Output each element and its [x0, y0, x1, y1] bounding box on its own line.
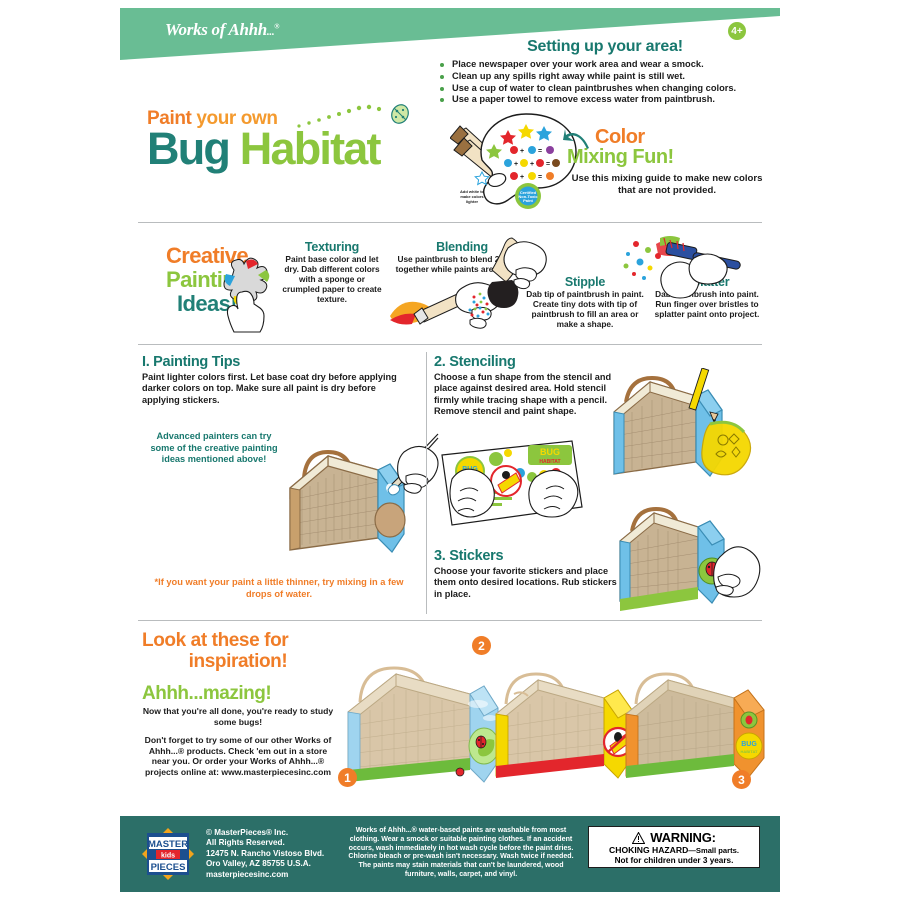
- palette-illustration: + = + + = + = Add white to make colors l…: [450, 108, 580, 216]
- brand-logo-text: Works of Ahhh: [165, 20, 267, 39]
- mixing-title-line2: Mixing Fun!: [567, 146, 767, 169]
- rights-line: All Rights Reserved.: [206, 838, 356, 848]
- brand-logo: Works of Ahhh...®: [165, 20, 279, 40]
- address-line-2: Oro Valley, AZ 85755 U.S.A.: [206, 859, 356, 869]
- svg-text:BUG: BUG: [540, 447, 560, 457]
- inspiration-heading: Look at these for inspiration!: [142, 630, 334, 672]
- divider-2: [138, 344, 762, 345]
- warning-header: WARNING:: [593, 830, 755, 845]
- step-body: Choose a fun shape from the stencil and …: [434, 372, 630, 418]
- divider-3: [138, 620, 762, 621]
- warning-line-2: CHOKING HAZARD—Small parts.: [593, 845, 755, 856]
- ahhh-body-part1: Now that you're all done, you're ready t…: [143, 706, 333, 727]
- photo-number-badge: 3: [732, 770, 751, 789]
- copyright-line: © MasterPieces® Inc.: [206, 828, 356, 838]
- footer: MASTER kids PIECES © MasterPieces® Inc. …: [120, 816, 780, 892]
- habitat-stencil-illustration: [610, 368, 758, 498]
- technique-name: Texturing: [282, 240, 382, 254]
- inspiration-photo-3: BUG HABITAT: [618, 658, 770, 788]
- choking-hazard-text: CHOKING HAZARD: [609, 845, 688, 855]
- palette-note-line3: lighter: [466, 199, 479, 204]
- warning-box: WARNING: CHOKING HAZARD—Small parts. Not…: [588, 826, 760, 868]
- svg-text:PIECES: PIECES: [151, 862, 186, 873]
- svg-text:HABITAT: HABITAT: [741, 749, 759, 754]
- step-body: Paint lighter colors first. Let base coa…: [142, 372, 412, 406]
- dotted-trail-decoration: [295, 100, 425, 134]
- step-title: I. Painting Tips: [142, 354, 412, 370]
- inspiration-photo-1: [338, 646, 508, 791]
- sticker-sheet-illustration: BUG HABITAT BUG HABITAT: [436, 433, 620, 538]
- svg-text:+: +: [520, 174, 524, 181]
- technique-desc: Paint base color and let dry. Dab differ…: [282, 254, 382, 304]
- company-website[interactable]: masterpiecesinc.com: [206, 870, 356, 880]
- inspiration-heading-line2: inspiration!: [142, 651, 334, 672]
- photo-number-badge: 2: [472, 636, 491, 655]
- svg-text:BUG: BUG: [741, 741, 757, 748]
- photo-number-badge: 1: [338, 768, 357, 787]
- svg-text:+: +: [520, 148, 524, 155]
- advanced-painters-note: Advanced painters can try some of the cr…: [148, 431, 280, 466]
- warning-triangle-icon: [632, 832, 645, 844]
- setup-section: Setting up your area! Place newspaper ov…: [438, 38, 772, 106]
- step-painting-tips: I. Painting Tips Paint lighter colors fi…: [142, 354, 412, 406]
- step-stenciling: 2. Stenciling Choose a fun shape from th…: [434, 354, 630, 418]
- thinner-note: *If you want your paint a little thinner…: [144, 576, 414, 600]
- address-line-1: 12475 N. Rancho Vistoso Blvd.: [206, 849, 356, 859]
- ahhhmazing-title: Ahhh...mazing!: [142, 683, 334, 705]
- splatter-toothbrush-icon: [620, 232, 770, 310]
- mixing-title-line1: Color: [567, 126, 767, 149]
- vertical-divider: [426, 352, 427, 614]
- step-title: 2. Stenciling: [434, 354, 630, 370]
- svg-text:+: +: [530, 161, 534, 168]
- warning-line-3: Not for children under 3 years.: [593, 856, 755, 866]
- step-stickers: 3. Stickers Choose your favorite sticker…: [434, 548, 624, 600]
- registered-mark-icon: ®: [274, 22, 279, 30]
- setup-bullet-list: Place newspaper over your work area and …: [438, 59, 772, 106]
- curved-arrow-icon: [563, 128, 591, 150]
- list-item: Place newspaper over your work area and …: [438, 59, 772, 71]
- svg-text:HABITAT: HABITAT: [539, 459, 560, 465]
- color-mixing-text: Color Mixing Fun! Use this mixing guide …: [567, 126, 767, 197]
- stipple-brush-icon: [450, 236, 560, 326]
- habitat-sticker-illustration: [614, 503, 764, 625]
- step-title: 3. Stickers: [434, 548, 624, 564]
- non-toxic-seal-icon: Certified Non-Toxic Paint: [515, 183, 541, 209]
- spacer: [140, 727, 336, 735]
- list-item: Clean up any spills right away while pai…: [438, 71, 772, 83]
- technique-texturing: Texturing Paint base color and let dry. …: [282, 240, 382, 304]
- divider-1: [138, 222, 762, 223]
- ahhhmazing-body: Now that you're all done, you're ready t…: [140, 706, 336, 778]
- ladybug-icon: [389, 102, 412, 126]
- step-body: Choose your favorite stickers and place …: [434, 566, 624, 600]
- svg-text:kids: kids: [161, 853, 175, 860]
- mixing-subtitle: Use this mixing guide to make new colors…: [567, 173, 767, 197]
- inspiration-heading-line1: Look at these for: [142, 630, 334, 651]
- small-parts-text: —Small parts.: [688, 846, 739, 855]
- habitat-painting-illustration: [280, 428, 440, 573]
- ahhh-website: www.masterpiecesinc.com: [221, 767, 331, 777]
- list-item: Use a cup of water to clean paintbrushes…: [438, 83, 772, 95]
- svg-text:MASTER: MASTER: [148, 839, 188, 850]
- product-instruction-sheet: Works of Ahhh...® 4+ Setting up your are…: [0, 0, 900, 900]
- masterpieces-logo: MASTER kids PIECES: [142, 828, 194, 880]
- sponge-hand-icon: [220, 256, 282, 334]
- svg-text:=: =: [546, 161, 550, 168]
- svg-text:=: =: [538, 174, 542, 181]
- care-instructions: Works of Ahhh...® water-based paints are…: [348, 826, 574, 879]
- list-item: Use a paper towel to remove excess water…: [438, 94, 772, 106]
- inspiration-photo-2: [488, 658, 638, 786]
- svg-text:Paint: Paint: [523, 198, 533, 203]
- setup-heading: Setting up your area!: [438, 38, 772, 56]
- company-info: © MasterPieces® Inc. All Rights Reserved…: [206, 828, 356, 880]
- svg-text:+: +: [514, 161, 518, 168]
- sheet-body: Works of Ahhh...® 4+ Setting up your are…: [120, 8, 780, 892]
- svg-text:=: =: [538, 148, 542, 155]
- hero-bug-word: Bug: [147, 123, 229, 174]
- warning-title: WARNING:: [650, 830, 716, 845]
